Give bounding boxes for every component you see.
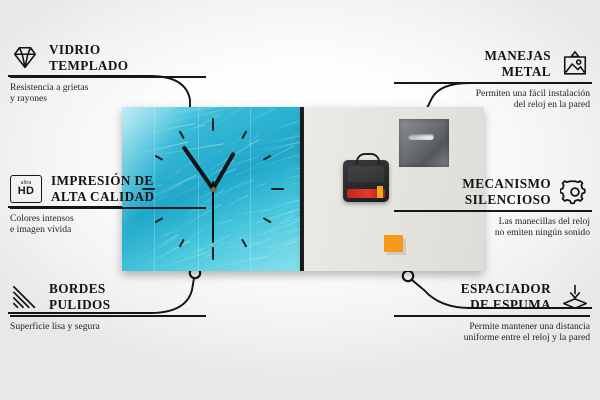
feature-divider bbox=[394, 315, 590, 317]
foam-spacer-arrow-icon bbox=[560, 283, 590, 311]
polished-edges-icon bbox=[10, 283, 40, 311]
feature-title: MANEJAS METAL bbox=[484, 48, 551, 79]
movement-hanger-loop bbox=[356, 153, 380, 165]
feature-description: Las manecillas del reloj no emiten ningú… bbox=[394, 216, 590, 239]
battery-terminal bbox=[377, 186, 383, 198]
feature-title: VIDRIO TEMPLADO bbox=[49, 42, 128, 73]
feature-impresion-alta-calidad: ultra HD IMPRESIÓN DE ALTA CALIDAD Color… bbox=[10, 173, 206, 236]
feature-heading: BORDES PULIDOS bbox=[10, 281, 206, 312]
feature-description: Resistencia a grietas y rayones bbox=[10, 82, 206, 105]
connector-ring-espaciador bbox=[403, 271, 413, 281]
feature-heading: ultra HD IMPRESIÓN DE ALTA CALIDAD bbox=[10, 173, 206, 204]
feature-description: Permiten una fácil instalación del reloj… bbox=[394, 88, 590, 111]
feature-manejas-metal: MANEJAS METAL Permiten una fácil instala… bbox=[394, 48, 590, 111]
feature-bordes-pulidos: BORDES PULIDOS Superficie lisa y segura bbox=[10, 281, 206, 332]
feature-description: Permite mantener una distancia uniforme … bbox=[394, 321, 590, 344]
quartz-movement-box bbox=[343, 160, 389, 202]
metal-hanger-plate bbox=[399, 119, 449, 167]
feature-vidrio-templado: VIDRIO TEMPLADO Resistencia a grietas y … bbox=[10, 42, 206, 105]
feature-title: MECANISMO SILENCIOSO bbox=[462, 176, 551, 207]
feature-description: Superficie lisa y segura bbox=[10, 321, 206, 333]
feature-heading: ESPACIADOR DE ESPUMA bbox=[394, 281, 590, 312]
diamond-icon bbox=[10, 44, 40, 72]
clock-center-pin bbox=[211, 187, 216, 192]
feature-divider bbox=[10, 76, 206, 78]
feature-divider bbox=[394, 82, 590, 84]
feature-heading: MECANISMO SILENCIOSO bbox=[394, 176, 590, 207]
infographic-canvas: VIDRIO TEMPLADO Resistencia a grietas y … bbox=[0, 0, 600, 400]
feature-espaciador-espuma: ESPACIADOR DE ESPUMA Permite mantener un… bbox=[394, 281, 590, 344]
feature-divider bbox=[394, 210, 590, 212]
feature-title: BORDES PULIDOS bbox=[49, 281, 110, 312]
glass-seam bbox=[250, 107, 251, 271]
battery-pack bbox=[347, 189, 385, 198]
feature-description: Colores intensos e imagen vívida bbox=[10, 213, 206, 236]
feature-divider bbox=[10, 207, 206, 209]
feature-heading: VIDRIO TEMPLADO bbox=[10, 42, 206, 73]
feature-heading: MANEJAS METAL bbox=[394, 48, 590, 79]
feature-mecanismo-silencioso: MECANISMO SILENCIOSO Las manecillas del … bbox=[394, 176, 590, 239]
gear-icon bbox=[560, 178, 590, 206]
ultra-hd-big-label: HD bbox=[18, 186, 35, 197]
ultra-hd-badge-icon: ultra HD bbox=[10, 175, 42, 203]
feature-title: ESPACIADOR DE ESPUMA bbox=[461, 281, 551, 312]
picture-frame-hanger-icon bbox=[560, 50, 590, 78]
feature-divider bbox=[10, 315, 206, 317]
hanger-keyhole-slot bbox=[408, 134, 434, 140]
feature-title: IMPRESIÓN DE ALTA CALIDAD bbox=[51, 173, 154, 204]
movement-label bbox=[348, 166, 384, 182]
